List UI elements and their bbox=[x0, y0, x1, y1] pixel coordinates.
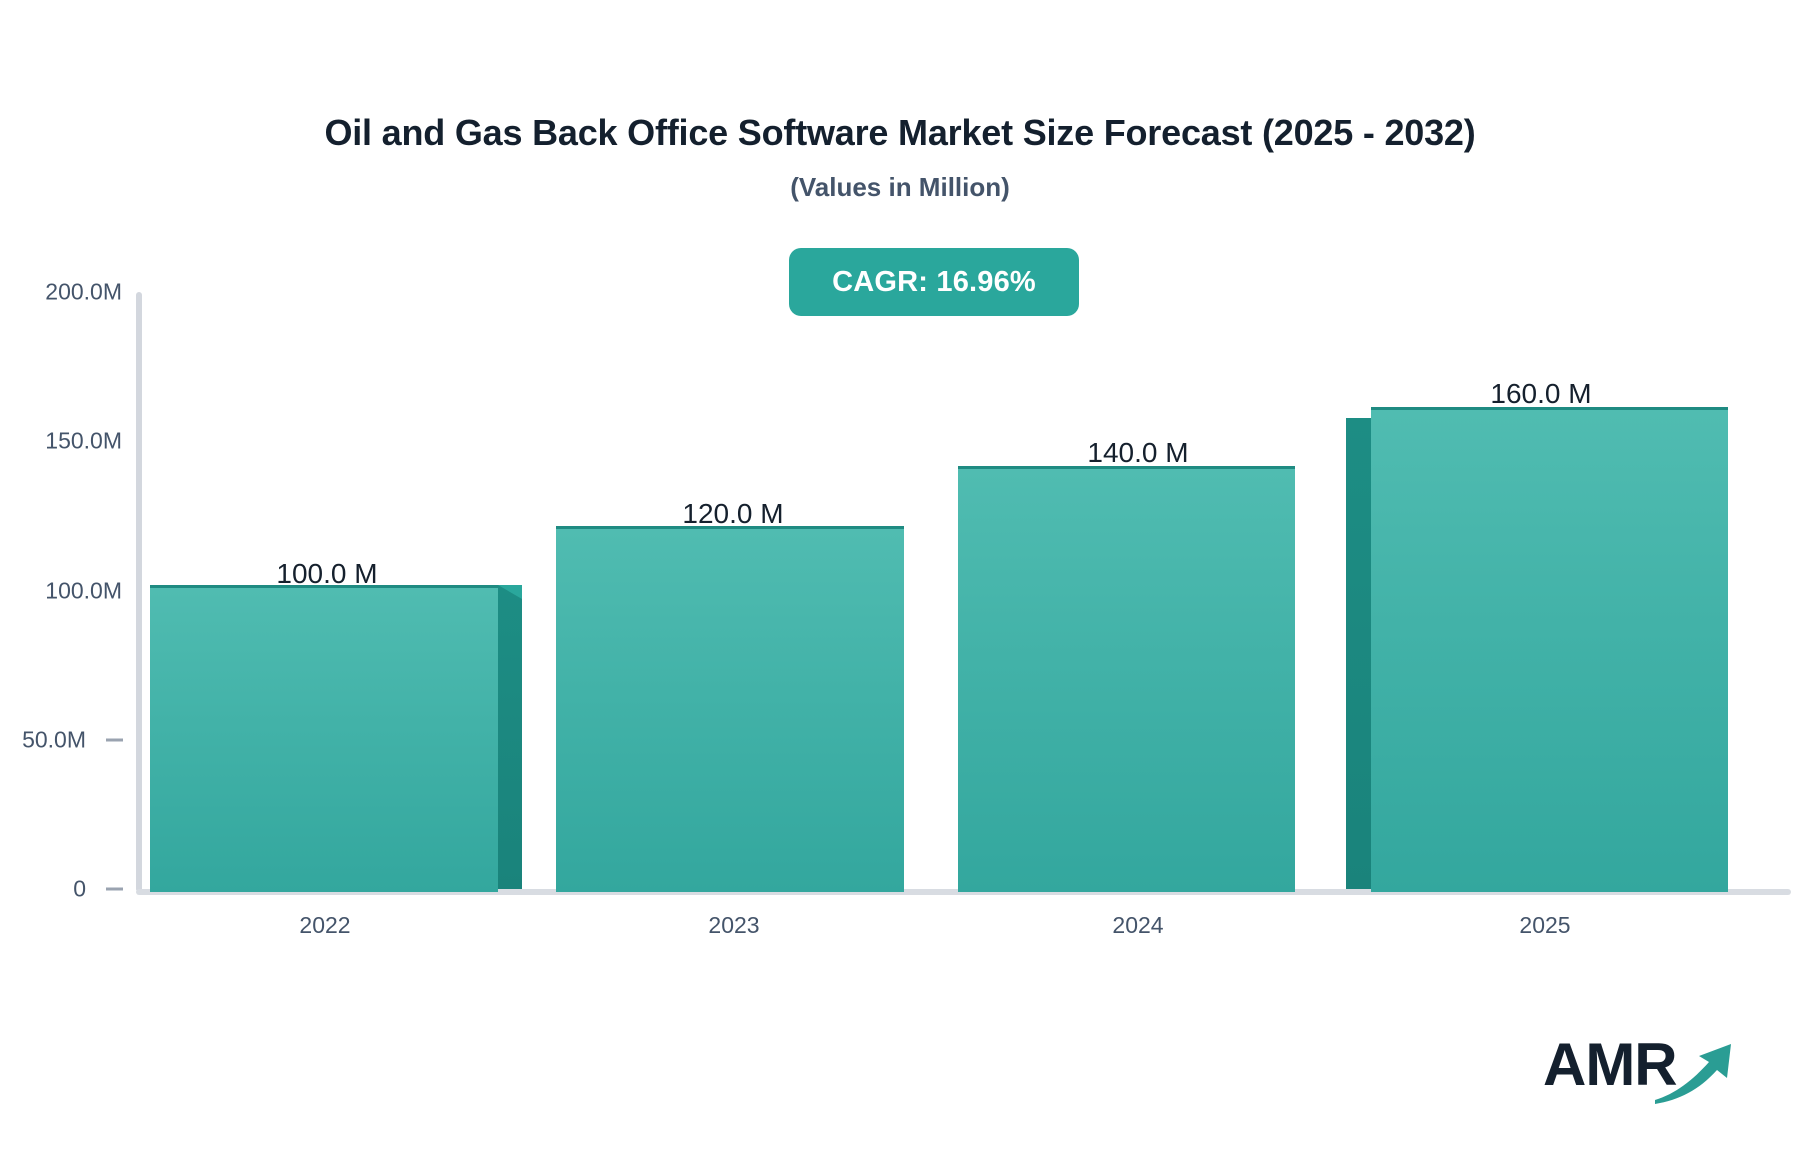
bar-3d-side-face bbox=[1346, 418, 1371, 889]
growth-arrow-icon bbox=[1653, 1036, 1737, 1106]
bar-value-label-2024: 140.0 M bbox=[1087, 437, 1188, 469]
amr-logo: AMR bbox=[1543, 1032, 1733, 1110]
bar-front-face bbox=[556, 526, 904, 892]
bar-front-face bbox=[150, 585, 498, 892]
bar-front-face bbox=[958, 466, 1295, 892]
bar-3d-top-face bbox=[498, 585, 522, 599]
bar-value-label-2023: 120.0 M bbox=[682, 498, 783, 530]
bar-3d-side-face bbox=[498, 585, 522, 889]
y-tick-dash-icon bbox=[106, 888, 123, 891]
x-tick-label-2024: 2024 bbox=[1112, 912, 1163, 939]
x-tick-label-2022: 2022 bbox=[299, 912, 350, 939]
plot-area: 200.0M 150.0M 100.0M 50.0M 0 100.0 M bbox=[0, 0, 1800, 1156]
y-tick-label: 0 bbox=[0, 876, 86, 903]
y-tick-label: 150.0M bbox=[4, 428, 122, 455]
bar-front-face bbox=[1371, 407, 1728, 892]
y-axis-line bbox=[136, 292, 142, 892]
y-tick-label: 200.0M bbox=[4, 279, 122, 306]
y-tick-label: 100.0M bbox=[4, 578, 122, 605]
y-tick-dash-icon bbox=[106, 739, 123, 742]
chart-page: Oil and Gas Back Office Software Market … bbox=[0, 0, 1800, 1156]
bar-value-label-2022: 100.0 M bbox=[276, 558, 377, 590]
y-tick-label: 50.0M bbox=[0, 727, 86, 754]
x-tick-label-2023: 2023 bbox=[708, 912, 759, 939]
bar-value-label-2025: 160.0 M bbox=[1490, 378, 1591, 410]
x-tick-label-2025: 2025 bbox=[1519, 912, 1570, 939]
